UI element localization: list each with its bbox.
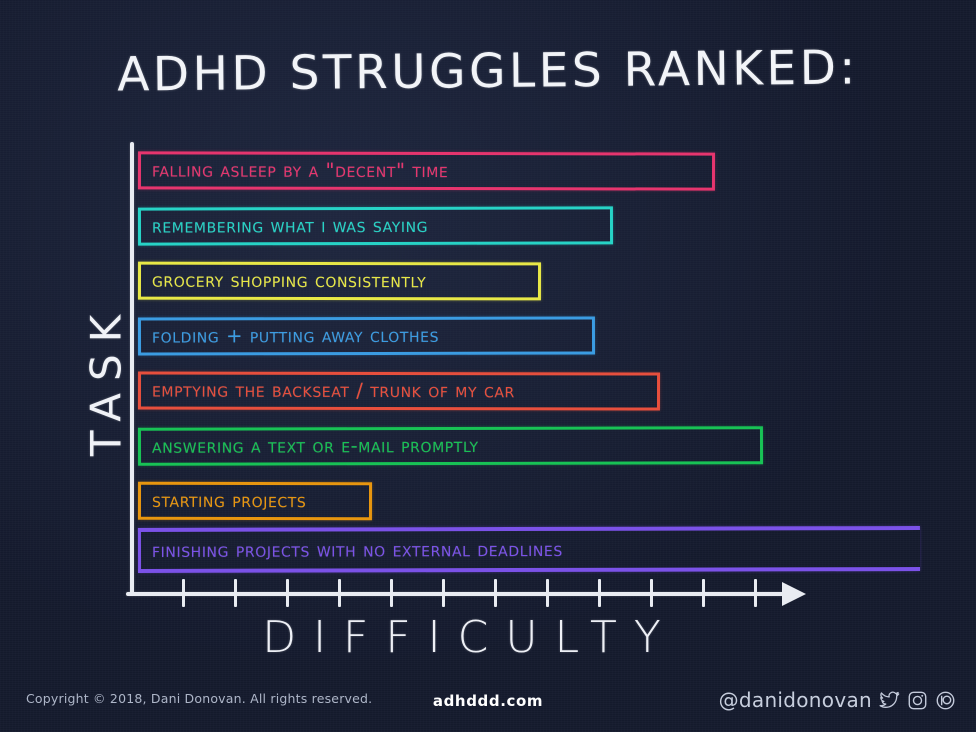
patreon-icon[interactable]: [935, 690, 956, 711]
bar-label-2: REMEMBERING WHAT I WAS SAYING: [152, 214, 428, 238]
social-handle: @danidonovan: [719, 688, 872, 712]
bar-series: FALLING ASLEEP BY A "DECENT" TIMEREMEMBE…: [0, 0, 976, 732]
bar-2: REMEMBERING WHAT I WAS SAYING: [138, 206, 613, 245]
twitter-icon[interactable]: [879, 690, 900, 711]
bar-3: GROCERY SHOPPING CONSISTENTLY: [138, 262, 541, 301]
bar-label-7: STARTING PROJECTS: [152, 489, 306, 512]
bar-label-8: FINISHING PROJECTS WITH NO EXTERNAL DEAD…: [152, 537, 563, 561]
social-footer: @danidonovan: [719, 688, 956, 712]
bar-8: FINISHING PROJECTS WITH NO EXTERNAL DEAD…: [138, 526, 920, 573]
bar-4: FOLDING + PUTTING AWAY CLOTHES: [138, 316, 595, 355]
bar-6: ANSWERING A TEXT OR E-MAIL PROMPTLY: [138, 426, 763, 466]
bar-label-3: GROCERY SHOPPING CONSISTENTLY: [152, 269, 426, 293]
bar-label-6: ANSWERING A TEXT OR E-MAIL PROMPTLY: [152, 434, 479, 458]
bar-1: FALLING ASLEEP BY A "DECENT" TIME: [138, 151, 715, 190]
bar-7: STARTING PROJECTS: [138, 482, 372, 520]
bar-label-4: FOLDING + PUTTING AWAY CLOTHES: [152, 324, 439, 348]
bar-label-1: FALLING ASLEEP BY A "DECENT" TIME: [152, 158, 448, 182]
bar-5: EMPTYING THE BACKSEAT / TRUNK OF MY CAR: [138, 371, 660, 410]
adhd-struggles-ranked-poster: ADHD STRUGGLES RANKED: TASK DIFFICULTY F…: [0, 0, 976, 732]
bar-label-5: EMPTYING THE BACKSEAT / TRUNK OF MY CAR: [152, 379, 515, 403]
instagram-icon[interactable]: [907, 690, 928, 711]
